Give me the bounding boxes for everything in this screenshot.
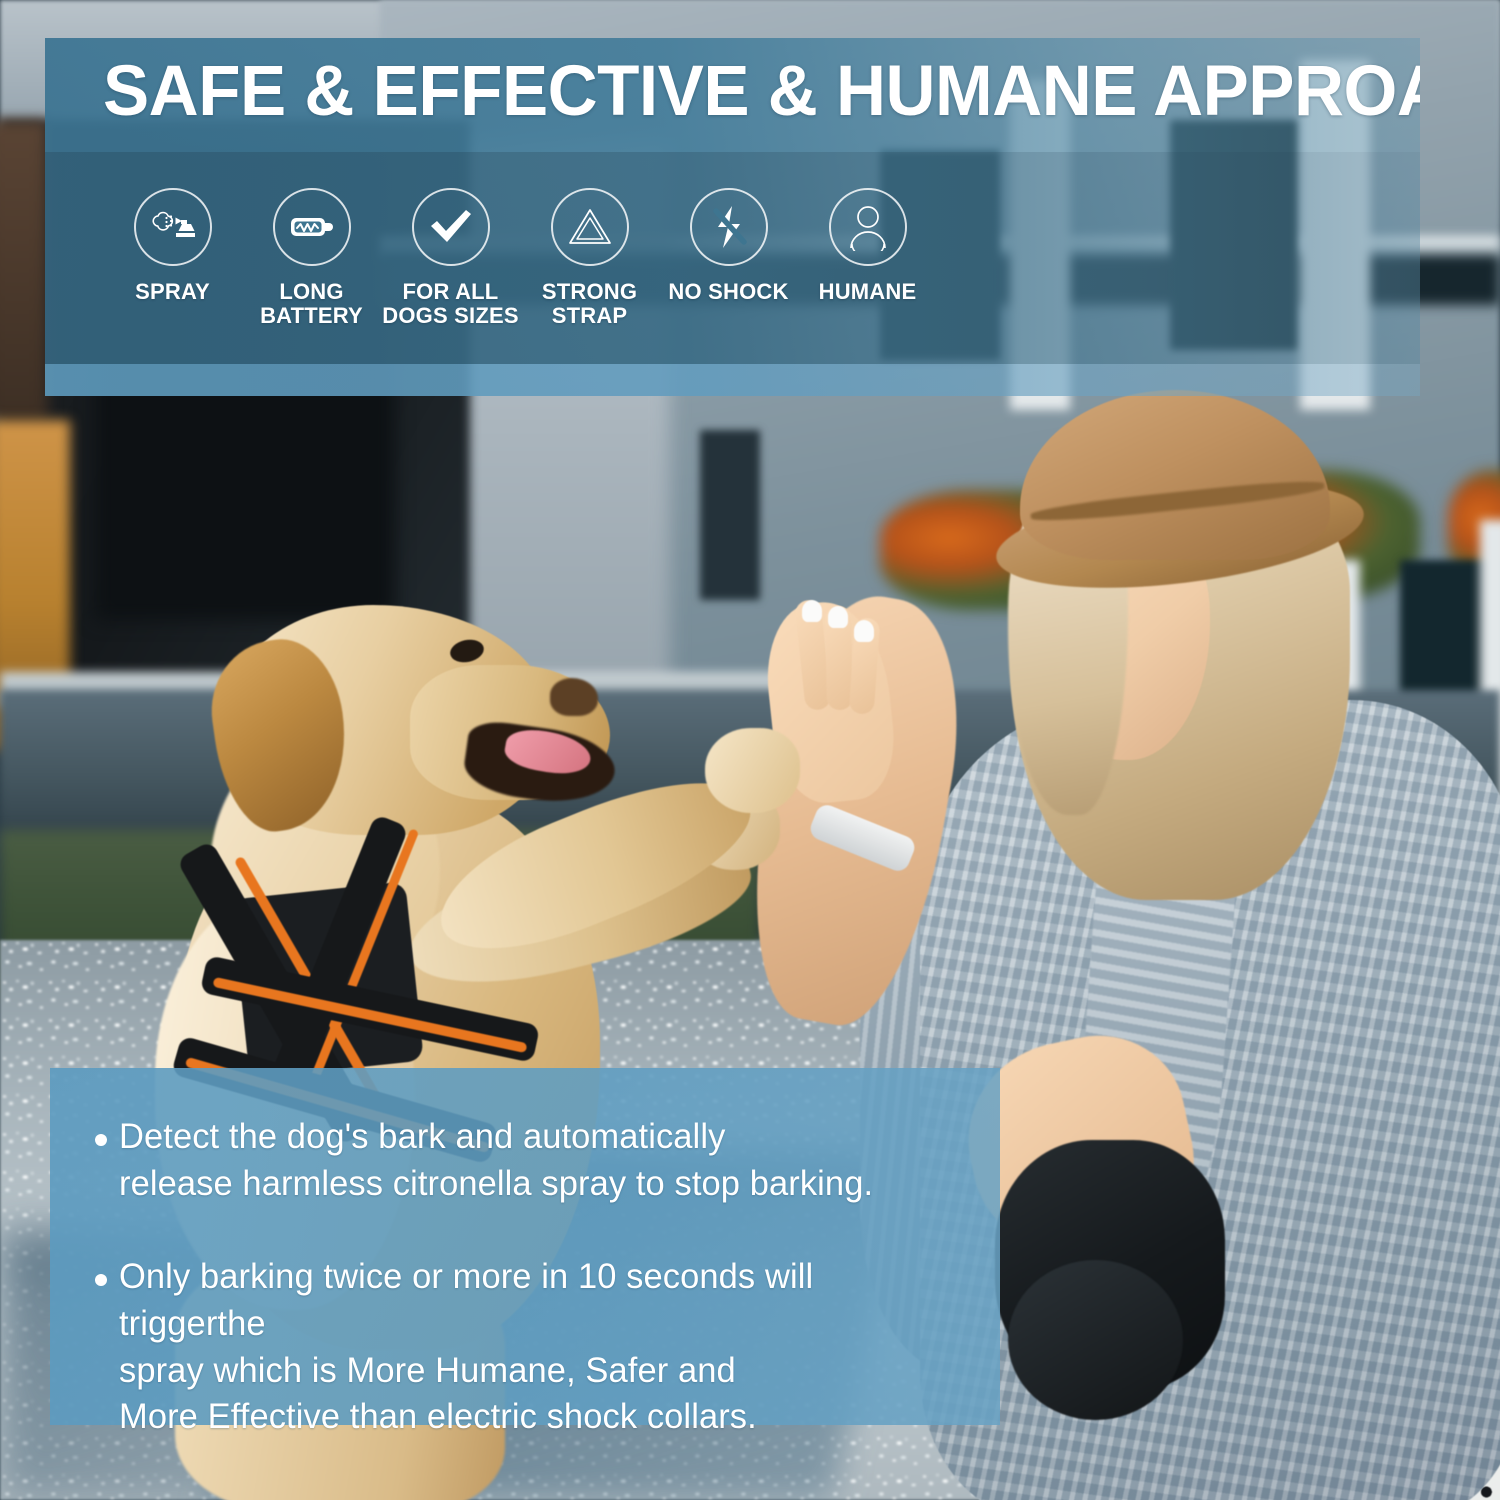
spray-nozzle-icon: [148, 207, 198, 247]
feature-triangle-circle: [551, 188, 629, 266]
header-accent-band: [45, 364, 1420, 396]
feature-checkmark-circle: [412, 188, 490, 266]
triangle-icon: [567, 206, 613, 248]
dog-nose: [550, 678, 598, 716]
lightning-slash-icon: [707, 204, 751, 250]
feature-icon-row: SPRAY LONG BATTERY FOR ALL DOGS SIZES: [103, 188, 937, 328]
dog-paw-1: [705, 728, 800, 813]
feature-for-all-dog-sizes: FOR ALL DOGS SIZES: [381, 188, 520, 328]
feature-spray: SPRAY: [103, 188, 242, 304]
feature-humane-circle: [829, 188, 907, 266]
feature-strong-strap-label: STRONG STRAP: [542, 280, 637, 328]
feature-dog-sizes-label: FOR ALL DOGS SIZES: [382, 280, 518, 328]
feature-no-shock-circle: [690, 188, 768, 266]
fingernail-3: [854, 620, 874, 642]
feature-humane: HUMANE: [798, 188, 937, 304]
feature-spray-label: SPRAY: [135, 280, 210, 304]
feature-battery-circle: [273, 188, 351, 266]
bullet-list: Detect the dog's bark and automatically …: [95, 1114, 975, 1441]
feature-description-panel: Detect the dog's bark and automatically …: [50, 1068, 1000, 1425]
feature-battery-label: LONG BATTERY: [260, 280, 363, 328]
person-icon: [846, 203, 890, 251]
background-post-upper: [0, 120, 48, 420]
feature-humane-label: HUMANE: [819, 280, 917, 304]
fedora-hat: [1020, 390, 1330, 560]
bullet-text: Detect the dog's bark and automatically …: [119, 1114, 873, 1208]
list-item: Detect the dog's bark and automatically …: [95, 1114, 975, 1208]
bullet-dot-icon: [95, 1274, 107, 1286]
list-item: Only barking twice or more in 10 seconds…: [95, 1254, 975, 1442]
header-banner: SAFE & EFFECTIVE & HUMANE APPROACH: [45, 38, 1420, 396]
feature-no-shock-label: NO SHOCK: [668, 280, 788, 304]
bullet-text: Only barking twice or more in 10 seconds…: [119, 1254, 962, 1442]
battery-icon: [289, 212, 335, 242]
page-title: SAFE & EFFECTIVE & HUMANE APPROACH: [103, 56, 1420, 127]
feature-long-battery: LONG BATTERY: [242, 188, 381, 328]
black-bag-lower: [1008, 1260, 1183, 1420]
feature-no-shock: NO SHOCK: [659, 188, 798, 304]
checkmark-icon: [426, 207, 476, 247]
feature-strong-strap: STRONG STRAP: [520, 188, 659, 328]
bullet-dot-icon: [95, 1134, 107, 1146]
feature-spray-circle: [134, 188, 212, 266]
